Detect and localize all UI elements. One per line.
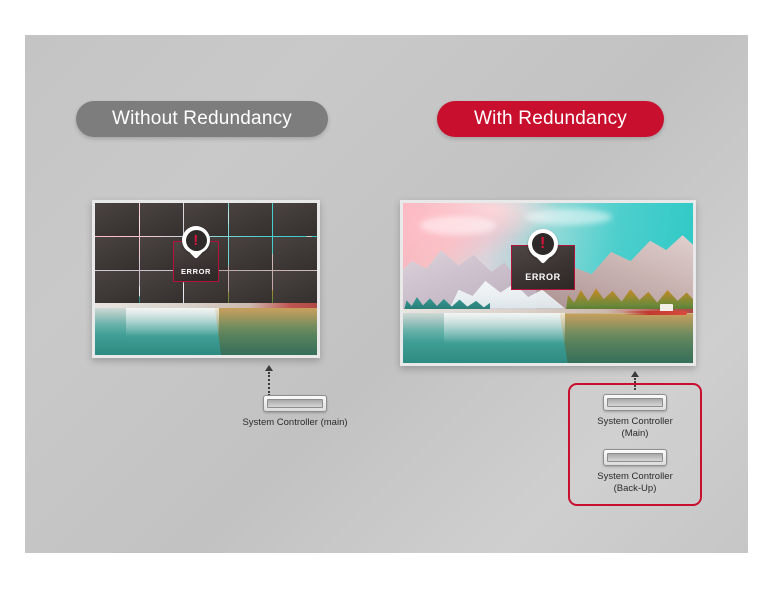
exclamation-glyph: !	[540, 236, 546, 252]
display-left-screen: ! ERROR	[95, 203, 317, 355]
videowall-panel	[229, 271, 273, 304]
arrow-head	[265, 365, 273, 371]
cloud-shape	[420, 216, 495, 235]
controller-caption: System Controller (main)	[242, 417, 347, 429]
lake-reflection-snow	[126, 308, 219, 337]
videowall-panel	[273, 203, 317, 236]
exclamation-pin-icon: !	[528, 229, 558, 259]
videowall-panel	[140, 203, 184, 236]
arrow-stem	[268, 372, 270, 396]
error-label-box: ! ERROR	[173, 241, 219, 282]
videowall-panel	[229, 203, 273, 236]
badge-with-redundancy: With Redundancy	[437, 101, 664, 137]
system-controller-icon	[603, 394, 667, 411]
redundant-controller-group: System Controller (Main) System Controll…	[568, 383, 702, 506]
controller-caption: System Controller (Back-Up)	[597, 471, 673, 494]
lake-reflection-snow	[444, 313, 566, 343]
system-controller-icon	[603, 449, 667, 466]
error-marker-right: ! ERROR	[511, 245, 575, 290]
error-text: ERROR	[181, 267, 211, 276]
badge-without-redundancy: Without Redundancy	[76, 101, 328, 137]
videowall-panel	[95, 271, 139, 304]
display-right-videowall: ! ERROR	[400, 200, 696, 366]
diagram-canvas: Without Redundancy With Redundancy	[25, 35, 748, 553]
system-controller-main: System Controller (Main)	[597, 394, 673, 439]
controller-slot	[607, 453, 663, 462]
controller-slot	[607, 398, 663, 407]
system-controller-backup: System Controller (Back-Up)	[597, 449, 673, 494]
controller-slot	[267, 399, 323, 408]
error-label-box: ! ERROR	[511, 245, 575, 290]
videowall-panel	[95, 203, 139, 236]
error-text: ERROR	[525, 272, 561, 282]
videowall-panel	[95, 237, 139, 270]
display-right-screen: ! ERROR	[403, 203, 693, 363]
pin-inner-circle: !	[532, 233, 554, 255]
exclamation-glyph: !	[193, 233, 199, 248]
videowall-panel	[229, 237, 273, 270]
system-controller-main-left: System Controller (main)	[230, 395, 360, 429]
red-boat	[623, 311, 687, 315]
arrow-head	[631, 371, 639, 377]
videowall-panel	[273, 271, 317, 304]
controller-caption: System Controller (Main)	[597, 416, 673, 439]
exclamation-pin-icon: !	[182, 226, 210, 254]
lake-reflection-forest	[560, 313, 693, 363]
dotted-up-arrow-icon-left	[263, 365, 275, 396]
error-marker-left: ! ERROR	[173, 241, 219, 282]
system-controller-icon	[263, 395, 327, 412]
pin-inner-circle: !	[186, 230, 207, 251]
display-left-videowall: ! ERROR	[92, 200, 320, 358]
lake-reflection-forest	[215, 308, 317, 355]
videowall-panel	[273, 237, 317, 270]
